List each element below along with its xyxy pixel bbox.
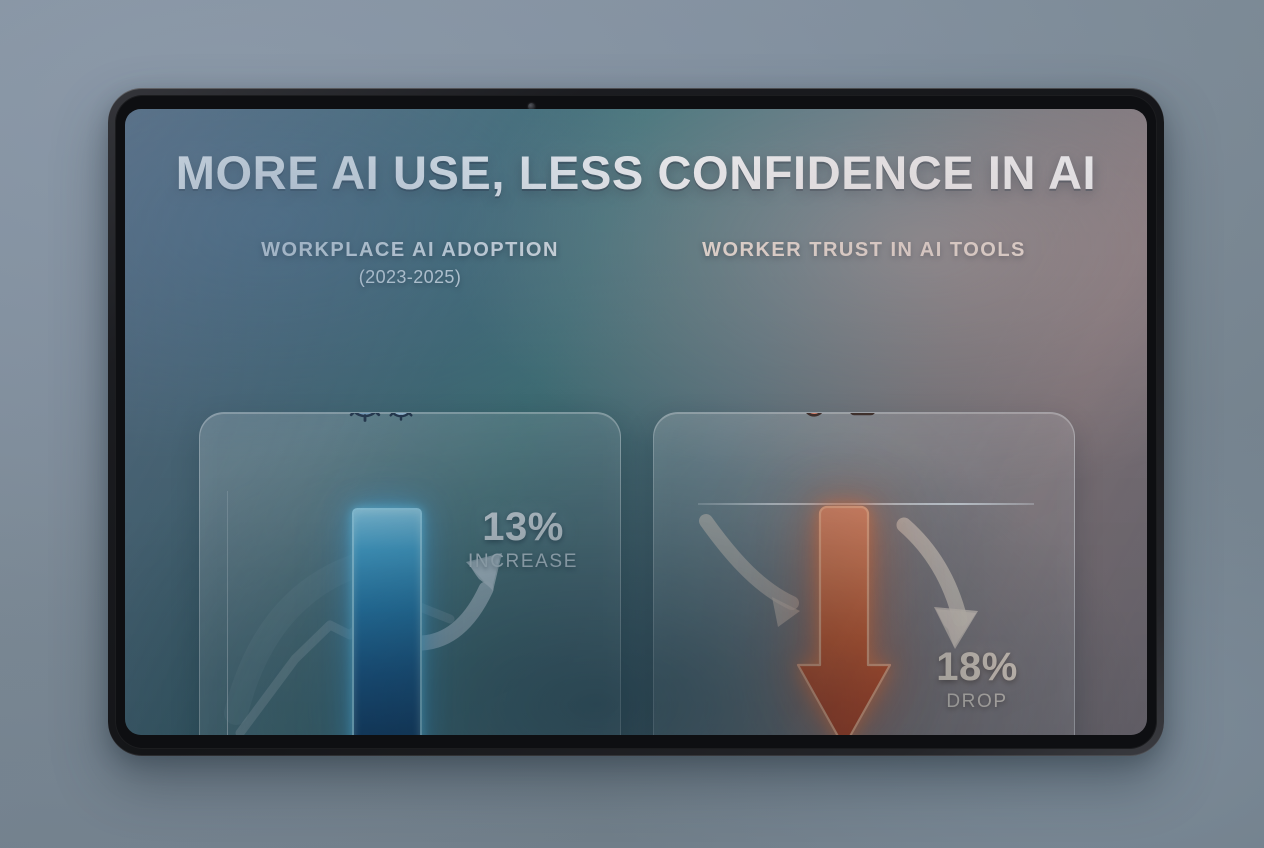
scene: MORE AI USE, LESS CONFIDENCE IN AI WORKP… xyxy=(0,0,1264,848)
stat-left: 13% INCREASE xyxy=(448,505,598,573)
stat-right: 18% DROP xyxy=(902,645,1052,713)
panel-title-left: WORKPLACE AI ADOPTION xyxy=(195,239,625,262)
chart-y-axis xyxy=(227,491,228,735)
chart-card-workplace-ai-adoption[interactable]: 13% INCREASE xyxy=(199,412,621,735)
panel-title-right: WORKER TRUST IN AI TOOLS xyxy=(649,239,1079,262)
broken-chain-lock-icon xyxy=(791,412,885,427)
panel-subtitle-left: (2023-2025) xyxy=(195,267,625,288)
bar-adoption xyxy=(352,508,422,735)
stat-label-left: INCREASE xyxy=(448,551,598,573)
stat-value-left: 13% xyxy=(448,505,598,550)
cloud-gears-icon xyxy=(335,412,429,427)
chart-card-worker-trust[interactable]: 18% DROP xyxy=(653,412,1075,735)
page-title: MORE AI USE, LESS CONFIDENCE IN AI xyxy=(125,145,1147,200)
down-arrow-decline-icon xyxy=(794,503,894,735)
panel-header-worker-trust: WORKER TRUST IN AI TOOLS xyxy=(649,239,1079,267)
stat-value-right: 18% xyxy=(902,645,1052,690)
panel-header-workplace-ai-adoption: WORKPLACE AI ADOPTION (2023-2025) xyxy=(195,239,625,288)
tablet-screen: MORE AI USE, LESS CONFIDENCE IN AI WORKP… xyxy=(125,109,1147,735)
stat-label-right: DROP xyxy=(902,691,1052,713)
tablet-device: MORE AI USE, LESS CONFIDENCE IN AI WORKP… xyxy=(108,88,1164,756)
